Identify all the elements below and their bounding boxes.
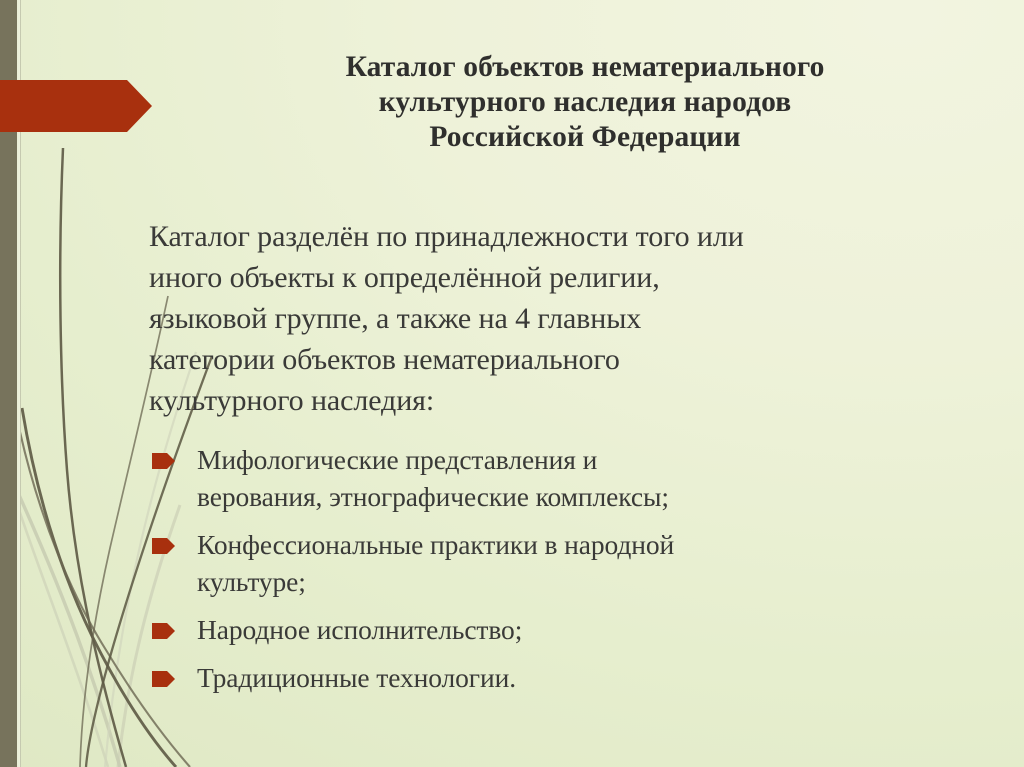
list-item-text: Народное исполнительство;	[197, 611, 1009, 648]
pennant-bullet-icon	[152, 671, 175, 687]
title-line-2: культурного наследия народов	[190, 85, 980, 120]
paragraph-line-1: Каталог разделён по принадлежности того …	[149, 216, 1009, 257]
list-item-line: Мифологические представления и	[197, 441, 1009, 478]
list-item-line: Народное исполнительство;	[197, 611, 1009, 648]
list-item-line: Традиционные технологии.	[197, 659, 1009, 696]
list-item: Мифологические представления и верования…	[149, 441, 1009, 515]
list-item-text: Традиционные технологии.	[197, 659, 1009, 696]
list-item: Конфессиональные практики в народной кул…	[149, 526, 1009, 600]
pennant-bullet-icon	[152, 538, 175, 554]
pennant-bullet-icon	[152, 623, 175, 639]
red-pennant-banner	[0, 80, 152, 132]
presentation-slide: Каталог объектов нематериального культур…	[0, 0, 1024, 767]
title-line-3: Российской Федерации	[190, 120, 980, 155]
intro-paragraph: Каталог разделён по принадлежности того …	[149, 216, 1009, 421]
list-item-text: Конфессиональные практики в народной кул…	[197, 526, 1009, 600]
list-item-line: верования, этнографические комплексы;	[197, 478, 1009, 515]
list-item-line: культуре;	[197, 563, 1009, 600]
paragraph-line-2: иного объекты к определённой религии,	[149, 257, 1009, 298]
title-line-1: Каталог объектов нематериального	[190, 50, 980, 85]
paragraph-line-4: категории объектов нематериального	[149, 339, 1009, 380]
paragraph-line-3: языковой группе, а также на 4 главных	[149, 298, 1009, 339]
slide-title: Каталог объектов нематериального культур…	[190, 50, 980, 155]
list-item: Традиционные технологии.	[149, 659, 1009, 696]
paragraph-line-5: культурного наследия:	[149, 380, 1009, 421]
category-bullet-list: Мифологические представления и верования…	[149, 441, 1009, 707]
list-item-text: Мифологические представления и верования…	[197, 441, 1009, 515]
list-item: Народное исполнительство;	[149, 611, 1009, 648]
list-item-line: Конфессиональные практики в народной	[197, 526, 1009, 563]
pennant-bullet-icon	[152, 453, 175, 469]
